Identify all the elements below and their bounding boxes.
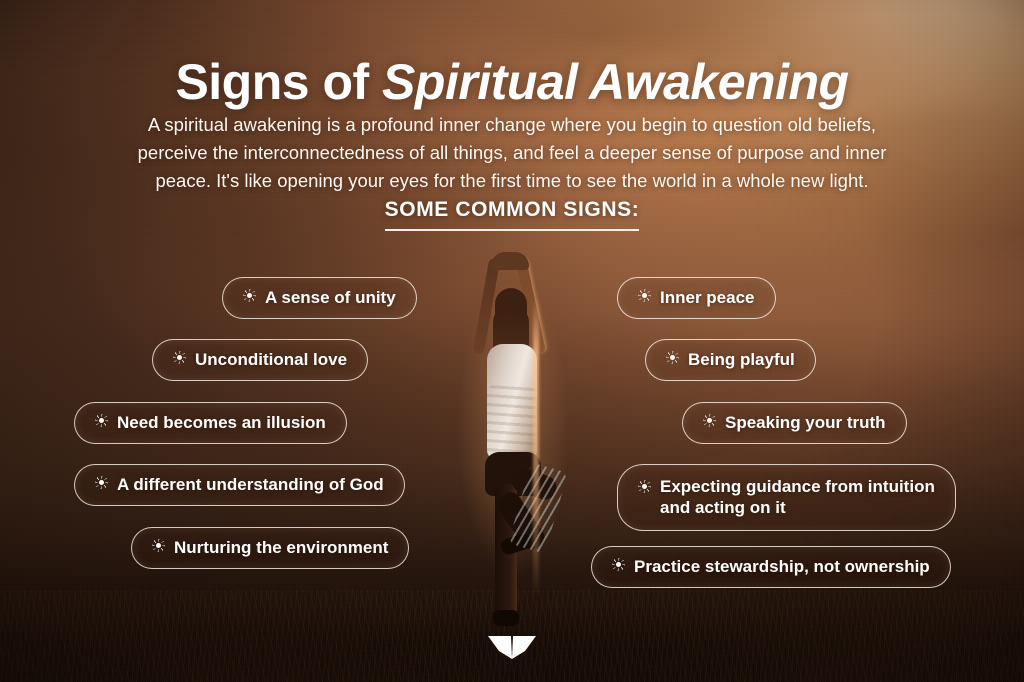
content-layer: Signs of Spiritual Awakening A spiritual… — [0, 0, 1024, 682]
sign-pill-left-4[interactable]: A different understanding of God — [74, 464, 405, 506]
sign-pill-right-3[interactable]: Speaking your truth — [682, 402, 907, 444]
sign-pill-label: A different understanding of God — [117, 475, 384, 496]
sign-pill-left-2[interactable]: Unconditional love — [152, 339, 368, 381]
sun-icon — [243, 289, 256, 302]
page-title: Signs of Spiritual Awakening — [0, 56, 1024, 109]
sign-pill-label: Unconditional love — [195, 350, 347, 371]
subhead-container: SOME COMMON SIGNS: — [0, 198, 1024, 231]
sign-pill-right-2[interactable]: Being playful — [645, 339, 816, 381]
sign-pill-label: Need becomes an illusion — [117, 413, 326, 434]
sign-pill-right-5[interactable]: Practice stewardship, not ownership — [591, 546, 951, 588]
sign-pill-left-5[interactable]: Nurturing the environment — [131, 527, 409, 569]
sign-pill-label: Inner peace — [660, 288, 755, 309]
sign-pill-left-1[interactable]: A sense of unity — [222, 277, 417, 319]
sign-pill-label: Being playful — [688, 350, 795, 371]
sign-pill-left-3[interactable]: Need becomes an illusion — [74, 402, 347, 444]
sign-pill-label: A sense of unity — [265, 288, 396, 309]
page-title-regular: Signs of — [175, 54, 382, 110]
sun-icon — [95, 476, 108, 489]
sign-pill-right-4[interactable]: Expecting guidance from intuition and ac… — [617, 464, 956, 531]
mindvalley-wings-logo-icon — [487, 634, 537, 664]
sun-icon — [638, 289, 651, 302]
sun-icon — [638, 480, 651, 493]
sign-pill-label: Nurturing the environment — [174, 538, 388, 559]
sign-pill-right-1[interactable]: Inner peace — [617, 277, 776, 319]
sun-icon — [612, 558, 625, 571]
sun-icon — [152, 539, 165, 552]
sign-pill-label: Practice stewardship, not ownership — [634, 557, 930, 578]
section-subhead: SOME COMMON SIGNS: — [385, 198, 640, 231]
sign-pill-label: Speaking your truth — [725, 413, 886, 434]
sun-icon — [703, 414, 716, 427]
infographic-poster: Signs of Spiritual Awakening A spiritual… — [0, 0, 1024, 682]
sun-icon — [95, 414, 108, 427]
sun-icon — [173, 351, 186, 364]
intro-paragraph: A spiritual awakening is a profound inne… — [112, 111, 912, 195]
sun-icon — [666, 351, 679, 364]
page-title-emphasis: Spiritual Awakening — [382, 54, 849, 110]
sign-pill-label: Expecting guidance from intuition and ac… — [660, 477, 935, 518]
